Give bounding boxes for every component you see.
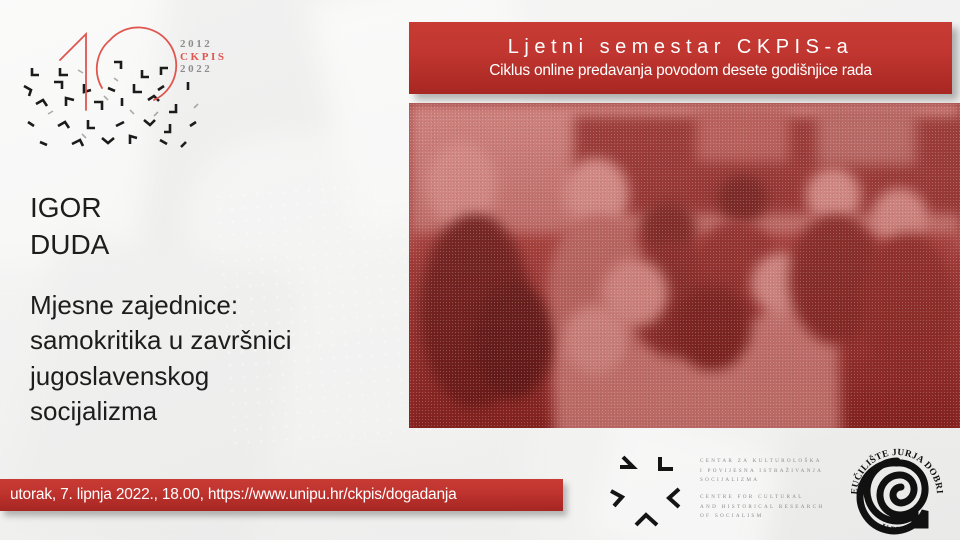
university-of-pula-logo: SVEUČILIŠTE JURJA DOBRILE U PULI xyxy=(851,447,943,535)
header-title: Ljetni semestar CKPIS-a xyxy=(508,36,853,58)
event-info-text[interactable]: utorak, 7. lipnja 2022., 18.00, https://… xyxy=(0,486,457,504)
ckpis-bracket-logo-icon xyxy=(603,445,693,533)
anniversary-logo: 2012 CKPIS 2022 xyxy=(24,12,239,127)
event-info-banner: utorak, 7. lipnja 2022., 18.00, https://… xyxy=(0,479,563,511)
talk-title-line: jugoslavenskog xyxy=(30,359,400,394)
speaker-name: IGOR DUDA xyxy=(30,190,109,264)
ckpis-full-name: CENTAR ZA KULTUROLOŠKA I POVIJESNA ISTRA… xyxy=(700,457,824,529)
logo-year-to: 2022 xyxy=(180,63,227,76)
talk-title-line: Mjesne zajednice: xyxy=(30,288,400,323)
speaker-first-name: IGOR xyxy=(30,190,109,227)
ckpis-name-line: CENTRE FOR CULTURAL xyxy=(700,493,824,503)
archival-photo xyxy=(409,103,960,428)
ckpis-name-line: SOCIJALIZMA xyxy=(700,476,824,486)
ckpis-name-line: CENTAR ZA KULTUROLOŠKA xyxy=(700,457,824,467)
talk-title-line: socijalizma xyxy=(30,394,400,429)
ckpis-name-english: CENTRE FOR CULTURAL AND HISTORICAL RESEA… xyxy=(700,493,824,522)
logo-year-from: 2012 xyxy=(180,38,227,51)
ckpis-name-croatian: CENTAR ZA KULTUROLOŠKA I POVIJESNA ISTRA… xyxy=(700,457,824,486)
speaker-last-name: DUDA xyxy=(30,227,109,264)
ckpis-name-line: OF SOCIALISM xyxy=(700,512,824,522)
talk-title: Mjesne zajednice: samokritika u završnic… xyxy=(30,288,400,429)
header-banner: Ljetni semestar CKPIS-a Ciklus online pr… xyxy=(409,22,952,94)
talk-title-line: samokritika u završnici xyxy=(30,323,400,358)
spiral-emblem xyxy=(860,461,925,531)
photo-grain-texture xyxy=(409,103,960,428)
logo-acronym: CKPIS xyxy=(180,51,227,64)
ckpis-name-line: I POVIJESNA ISTRAŽIVANJA xyxy=(700,467,824,477)
header-subtitle: Ciklus online predavanja povodom desete … xyxy=(489,62,872,80)
ckpis-name-line: AND HISTORICAL RESEARCH xyxy=(700,503,824,513)
anniversary-logo-years: 2012 CKPIS 2022 xyxy=(180,38,227,76)
